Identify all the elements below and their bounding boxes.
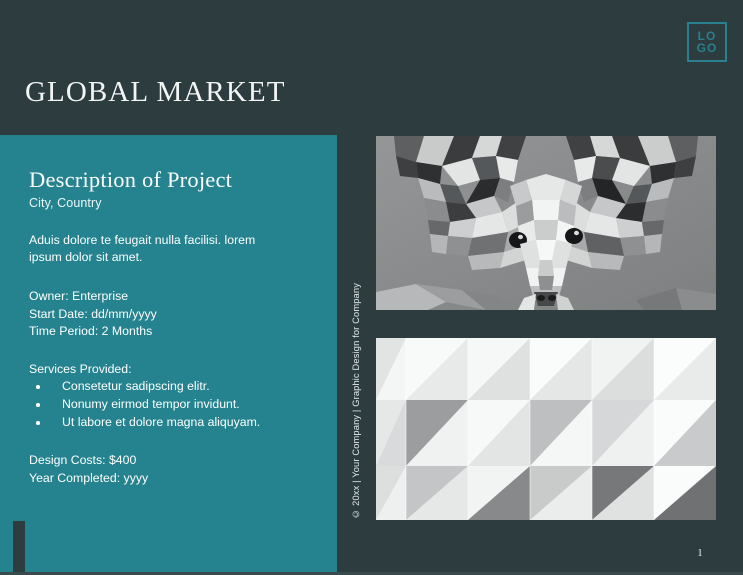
slide-canvas: LO GO GLOBAL MARKET Description of Proje… (0, 0, 743, 575)
panel-subheading: City, Country (29, 196, 309, 210)
page-title: GLOBAL MARKET (25, 76, 286, 109)
logo-line-bottom: GO (697, 42, 718, 54)
design-costs: Design Costs: $400 (29, 452, 309, 470)
logo-mark: LO GO (687, 22, 727, 62)
fact-start-date: Start Date: dd/mm/yyyy (29, 306, 309, 324)
costs-block: Design Costs: $400 Year Completed: yyyy (29, 452, 309, 488)
accent-bar (13, 521, 25, 575)
bullet-dot-icon (36, 421, 40, 425)
panel-heading: Description of Project (29, 167, 309, 193)
list-item: Ut labore et dolore magna aliquyam. (29, 414, 309, 432)
geometric-triangle-pattern-graphic (376, 338, 716, 520)
page-number: 1 (680, 548, 720, 559)
fact-owner: Owner: Enterprise (29, 288, 309, 306)
services-list: Consetetur sadipscing elitr. Nonumy eirm… (29, 378, 309, 432)
services-label: Services Provided: (29, 362, 309, 376)
service-text: Nonumy eirmod tempor invidunt. (62, 397, 240, 411)
service-text: Ut labore et dolore magna aliquyam. (62, 415, 260, 429)
year-completed: Year Completed: yyyy (29, 470, 309, 488)
bullet-dot-icon (36, 385, 40, 389)
bottom-image-pattern (376, 338, 716, 520)
list-item: Consetetur sadipscing elitr. (29, 378, 309, 396)
credit-text: © 20xx | Your Company | Graphic Design f… (351, 283, 361, 519)
fact-time-period: Time Period: 2 Months (29, 323, 309, 341)
credit-vertical: © 20xx | Your Company | Graphic Design f… (337, 135, 375, 575)
project-info-panel: Description of Project City, Country Adu… (0, 135, 337, 575)
low-poly-deer-head-graphic (376, 136, 716, 310)
project-facts-block: Owner: Enterprise Start Date: dd/mm/yyyy… (29, 288, 309, 341)
top-image-deer (376, 136, 716, 310)
project-description-paragraph: Aduis dolore te feugait nulla facilisi. … (29, 232, 287, 267)
bullet-dot-icon (36, 403, 40, 407)
service-text: Consetetur sadipscing elitr. (62, 379, 210, 393)
list-item: Nonumy eirmod tempor invidunt. (29, 396, 309, 414)
